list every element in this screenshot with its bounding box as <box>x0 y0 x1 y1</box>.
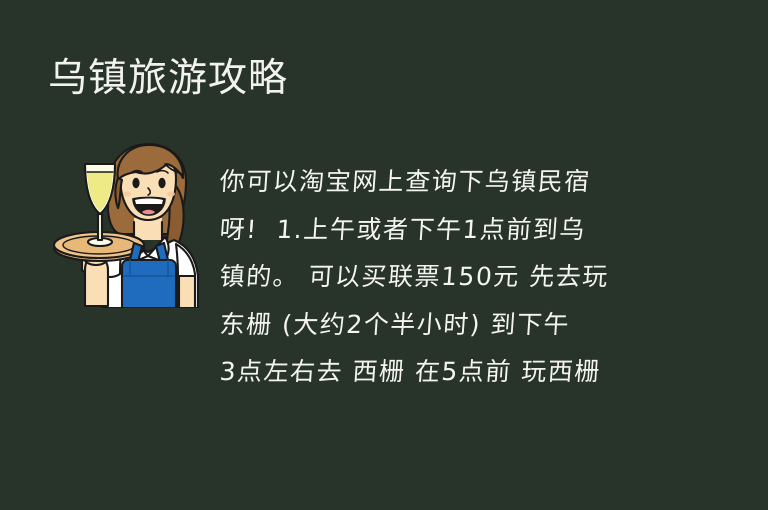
waitress-illustration <box>52 136 204 308</box>
body-text-block: 你可以淘宝网上查询下乌镇民宿 呀! 1.上午或者下午1点前到乌 镇的。 可以买联… <box>218 158 658 396</box>
slide-canvas: 乌镇旅游攻略 <box>0 0 768 510</box>
body-line: 东栅 (大约2个半小时) 到下午 <box>218 301 661 349</box>
body-line: 你可以淘宝网上查询下乌镇民宿 <box>218 158 661 206</box>
body-line: 呀! 1.上午或者下午1点前到乌 <box>218 206 661 254</box>
page-title: 乌镇旅游攻略 <box>48 56 288 102</box>
body-line: 镇的。 可以买联票150元 先去玩 <box>218 253 661 301</box>
waitress-with-tray-icon <box>52 136 204 308</box>
body-line: 3点左右去 西栅 在5点前 玩西栅 <box>218 348 661 396</box>
